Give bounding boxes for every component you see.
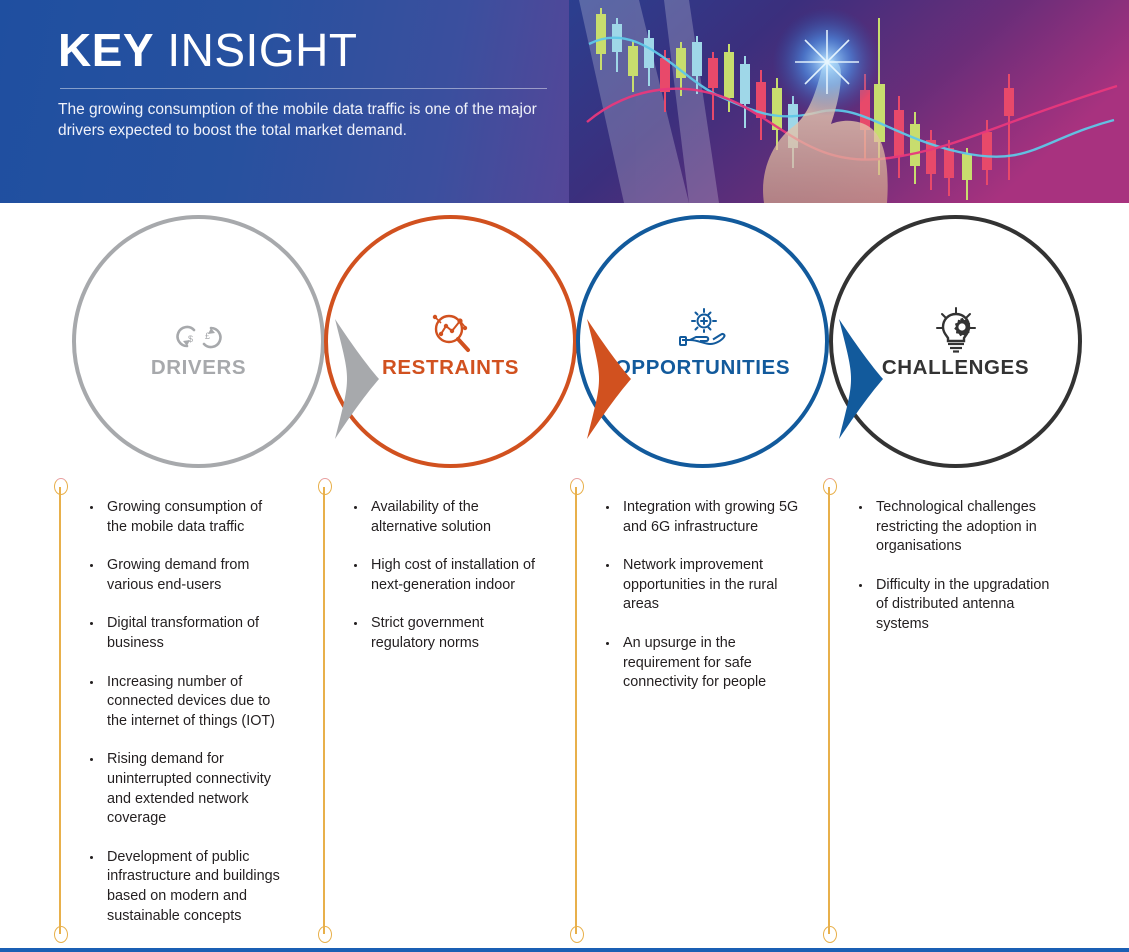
gold-cap-bottom [318,926,332,943]
gold-divider-1 [317,477,331,944]
gold-divider-line [828,487,829,934]
list-item: Digital transformation of business [88,614,284,653]
list-item: Difficulty in the upgradation of distrib… [857,576,1057,635]
list-item: Growing consumption of the mobile data t… [88,498,284,537]
header-text-block: KEY INSIGHT The growing consumption of t… [58,22,578,141]
page-title-rest: INSIGHT [154,24,357,76]
bullet-list-drivers: Growing consumption of the mobile data t… [88,498,284,945]
stock-chart-hand-image [569,0,1129,203]
gold-cap-top [570,478,584,495]
circle-label-drivers: DRIVERS [151,356,246,380]
list-item: Strict government regulatory norms [352,614,548,653]
circular-arrows-money-icon: $ £ [175,304,223,354]
lightbulb-gear-icon [932,304,980,354]
circle-drivers[interactable]: $ £ DRIVERS [72,215,325,468]
gold-divider-line [575,487,576,934]
list-item: An upsurge in the requirement for safe c… [604,634,800,693]
list-item: Network improvement opportunities in the… [604,556,800,615]
list-item: Availability of the alternative solution [352,498,548,537]
gold-divider-0 [53,477,67,944]
page-title-bold: KEY [58,24,154,76]
gold-divider-line [59,487,60,934]
page-title: KEY INSIGHT [58,22,578,78]
gold-divider-2 [569,477,583,944]
magnifier-analytics-icon [427,304,475,354]
list-item: Technological challenges restricting the… [857,498,1057,557]
gold-cap-bottom [570,926,584,943]
bullet-list-restraints: Availability of the alternative solution… [352,498,548,673]
factors-stage: $ £ DRIVERS [0,203,1129,948]
chevron-drivers-to-restraints [333,319,383,444]
svg-text:$: $ [188,334,193,344]
bullet-list-challenges: Technological challenges restricting the… [857,498,1057,654]
title-divider [60,88,547,89]
circle-label-challenges: CHALLENGES [882,356,1029,380]
circle-label-opportunities: OPPORTUNITIES [615,356,790,380]
gold-cap-bottom [823,926,837,943]
gold-cap-top [823,478,837,495]
gold-cap-bottom [54,926,68,943]
circle-label-restraints: RESTRAINTS [382,356,519,380]
bullet-list-opportunities: Integration with growing 5G and 6G infra… [604,498,800,712]
gold-divider-line [323,487,324,934]
header-banner: KEY INSIGHT The growing consumption of t… [0,0,1129,203]
list-item: Rising demand for uninterrupted connecti… [88,750,284,828]
list-item: Development of public infrastructure and… [88,848,284,926]
key-insight-infographic: KEY INSIGHT The growing consumption of t… [0,0,1129,952]
list-item: Integration with growing 5G and 6G infra… [604,498,800,537]
gold-divider-3 [822,477,836,944]
chevron-restraints-to-opportunities [585,319,635,444]
gold-cap-top [318,478,332,495]
list-item: High cost of installation of next-genera… [352,556,548,595]
hand-holding-sun-plus-icon [678,304,728,354]
gold-cap-top [54,478,68,495]
svg-text:£: £ [205,331,210,341]
list-item: Growing demand from various end-users [88,556,284,595]
page-subtitle: The growing consumption of the mobile da… [58,99,570,141]
chevron-opportunities-to-challenges [837,319,887,444]
list-item: Increasing number of connected devices d… [88,673,284,732]
